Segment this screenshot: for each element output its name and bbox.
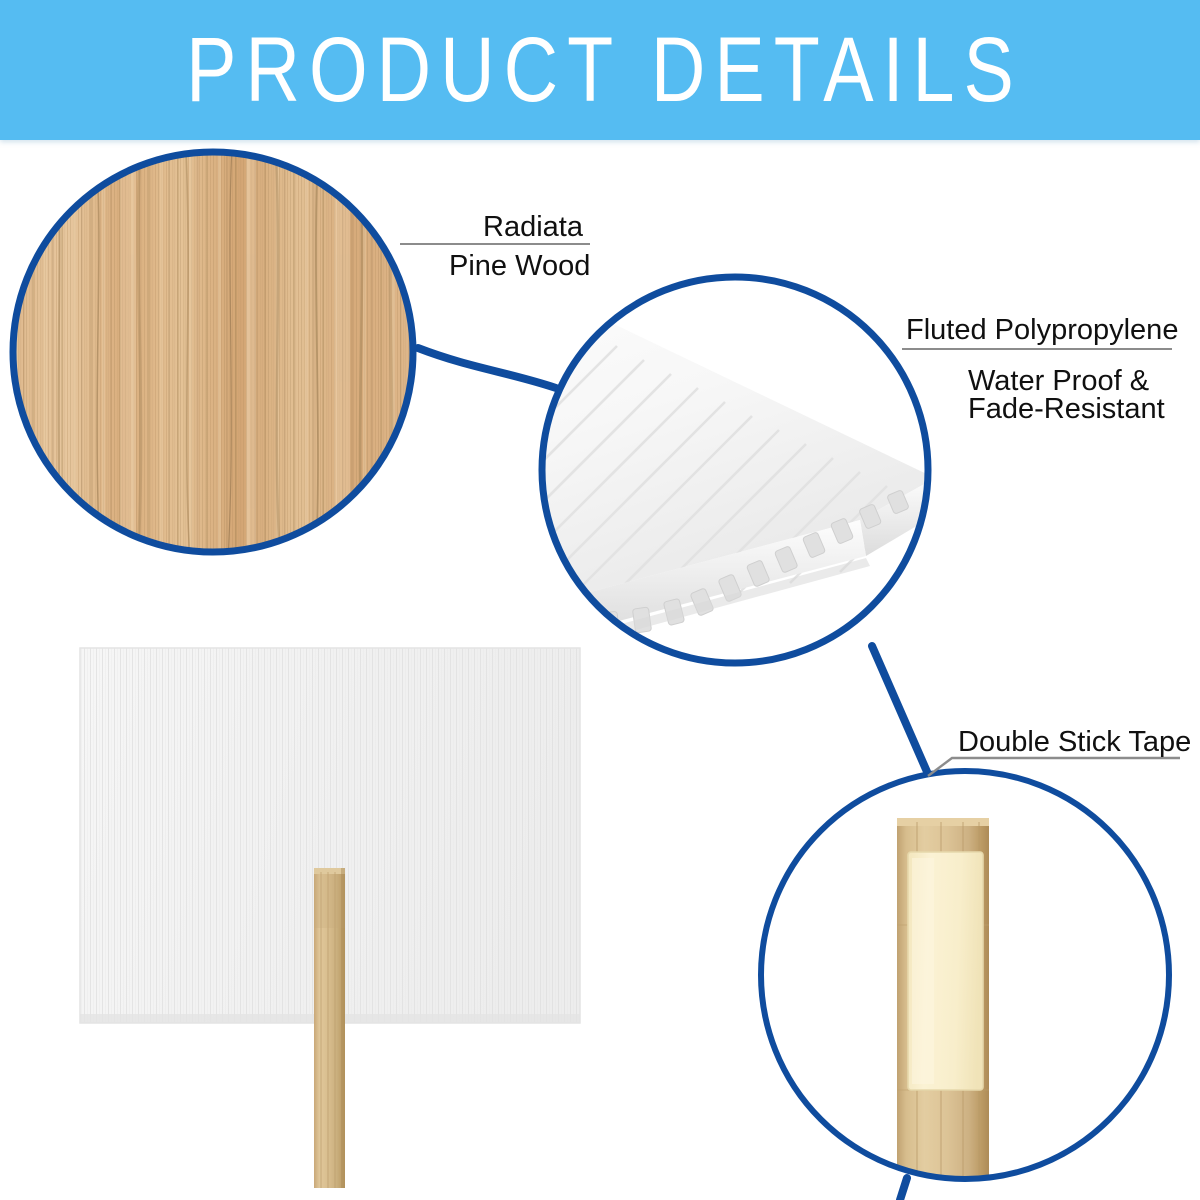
callout-rule-wood [400,243,590,245]
callout-label-polypropylene-subtitle-line2: Fade-Resistant [968,391,1165,428]
callout-wood-circle [10,148,420,560]
product-details-infographic: PRODUCT DETAILS [0,0,1200,1200]
connector-tape-bottom [900,1178,907,1200]
illustration-layer [0,0,1200,1200]
callout-label-wood-title: Radiata [483,209,583,246]
callout-label-polypropylene-title: Fluted Polypropylene [906,312,1178,349]
callout-tape-circle [761,771,1169,1190]
connector-poly-to-tape [872,646,928,774]
callout-rule-polypropylene [902,348,1172,350]
connector-wood-to-poly [418,348,556,388]
callout-label-tape-title: Double Stick Tape [958,724,1191,761]
callout-polypropylene-circle [325,255,940,663]
product-wood-stake [314,868,345,1188]
callout-label-wood-subtitle: Pine Wood [449,248,590,285]
